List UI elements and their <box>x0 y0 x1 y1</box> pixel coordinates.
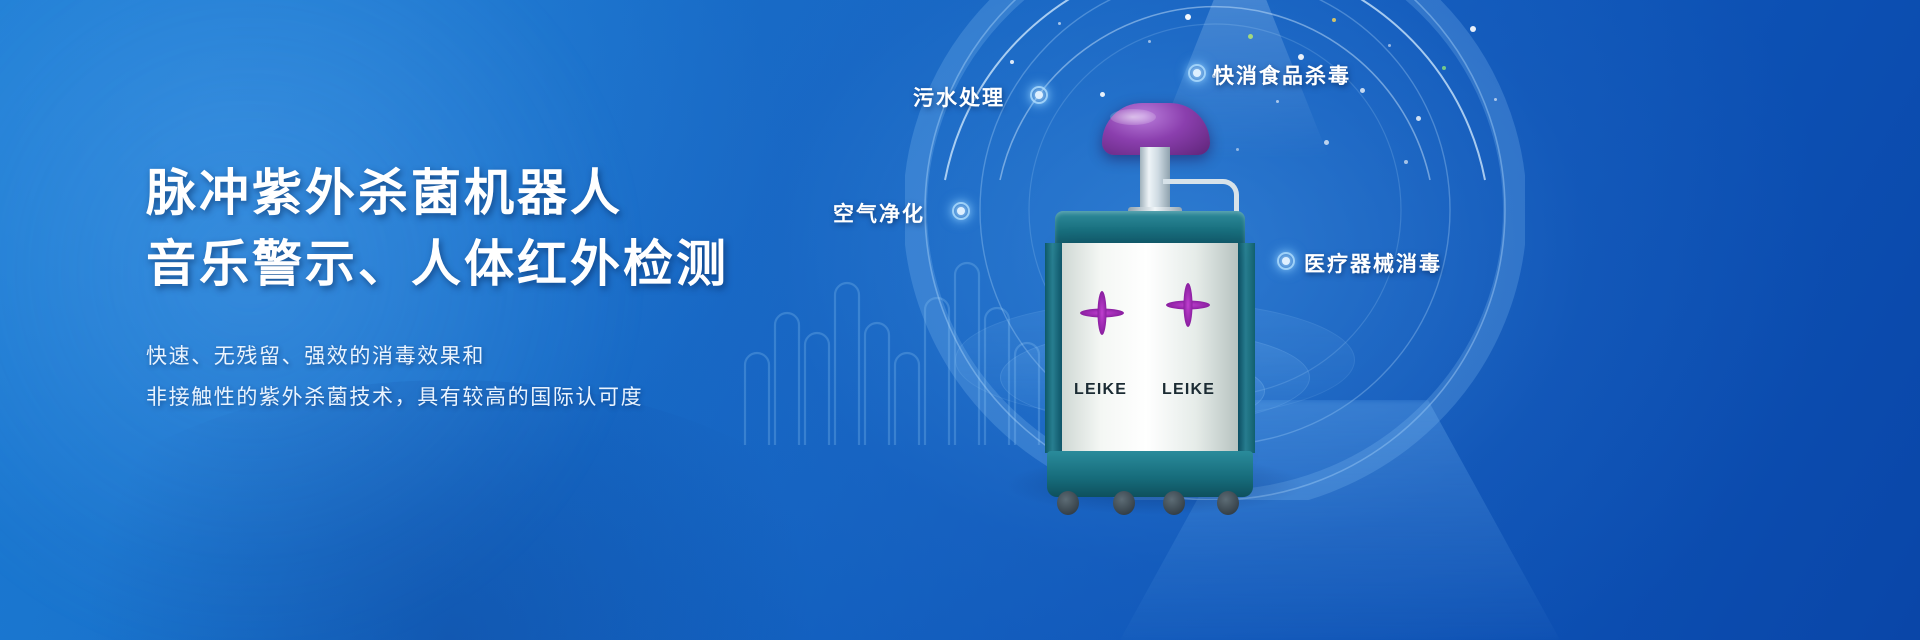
caster-wheel-1 <box>1057 491 1079 515</box>
brand-label-left: LEIKE <box>1074 381 1127 399</box>
device-top-cap <box>1055 211 1245 245</box>
marker-core-icon <box>957 207 965 215</box>
device-left-rail <box>1045 243 1062 453</box>
brand-label-right: LEIKE <box>1162 381 1215 399</box>
marker-node-food-sterilization <box>1188 64 1206 82</box>
device-right-rail <box>1238 243 1255 453</box>
banner-title-line-1: 脉冲紫外杀菌机器人 <box>146 158 846 227</box>
device-body-panel: LEIKE LEIKE <box>1062 243 1238 453</box>
marker-core-icon <box>1193 69 1201 77</box>
feature-label-fmcg-food-sterilization: 快消食品杀毒 <box>1213 60 1351 90</box>
caster-wheel-2 <box>1113 491 1135 515</box>
banner-title-line-2: 音乐警示、人体红外检测 <box>146 229 846 298</box>
uv-sterilization-robot-product: LEIKE LEIKE <box>1035 95 1265 495</box>
uv-sparkle-icon-left <box>1080 291 1124 335</box>
uv-sparkle-icon-right <box>1166 283 1210 327</box>
device-base <box>1047 451 1253 497</box>
feature-label-wastewater-treatment: 污水处理 <box>913 82 1005 112</box>
marker-core-icon <box>1282 257 1290 265</box>
caster-wheel-4 <box>1217 491 1239 515</box>
caster-wheel-3 <box>1163 491 1185 515</box>
marker-node-air-purification <box>952 202 970 220</box>
banner-subtitle-line-1: 快速、无残留、强效的消毒效果和 <box>146 336 846 377</box>
feature-label-medical-device-disinfection: 医疗器械消毒 <box>1304 248 1442 278</box>
marker-node-wastewater-treatment <box>1030 86 1048 104</box>
promo-banner: LEIKE LEIKE 污水处理 快消食品杀毒 空气净化 医疗器械消毒 脉冲紫外… <box>0 0 1920 640</box>
marker-core-icon <box>1035 91 1043 99</box>
feature-label-air-purification: 空气净化 <box>833 198 925 228</box>
banner-subtitle-line-2: 非接触性的紫外杀菌技术，具有较高的国际认可度 <box>146 377 846 418</box>
banner-subtitle-block: 快速、无残留、强效的消毒效果和 非接触性的紫外杀菌技术，具有较高的国际认可度 <box>146 336 846 418</box>
marker-node-medical-disinfection <box>1277 252 1295 270</box>
banner-copy-block: 脉冲紫外杀菌机器人 音乐警示、人体红外检测 快速、无残留、强效的消毒效果和 非接… <box>146 158 846 418</box>
